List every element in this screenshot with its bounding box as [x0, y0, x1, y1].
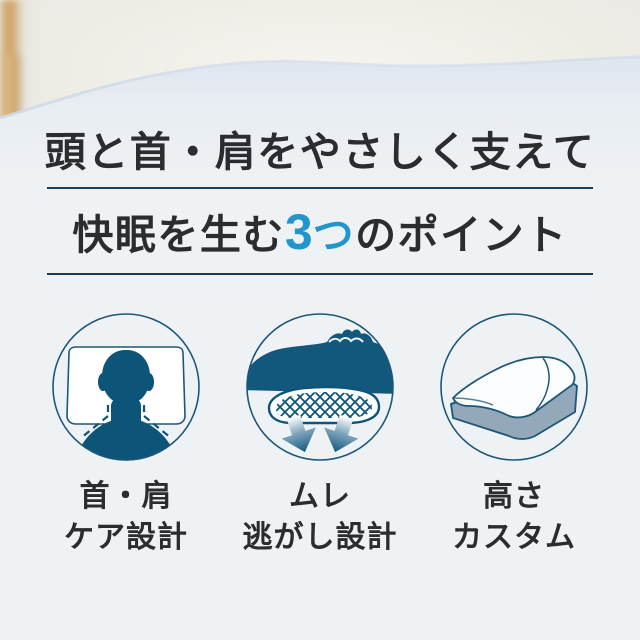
- height-adjust-layer-icon: [439, 312, 589, 462]
- feature-item-neck-shoulder: 首・肩 ケア設計: [47, 312, 205, 558]
- mesh-airflow-icon: [245, 312, 395, 462]
- headline-line-1: 頭と首・肩をやさしく支えて: [0, 126, 640, 178]
- feature-2-caption-line-2: 逃がし設計: [243, 517, 398, 558]
- headline-line-2: 快眠を生む3つのポイント: [0, 206, 640, 261]
- headline-line-2-after: のポイント: [355, 212, 568, 258]
- infographic-page: 頭と首・肩をやさしく支えて 快眠を生む3つのポイント: [0, 0, 640, 640]
- feature-1-icon-wrap: [51, 312, 201, 462]
- headline-rule-bottom: [47, 273, 593, 275]
- feature-list: 首・肩 ケア設計: [0, 312, 640, 558]
- feature-1-caption: 首・肩 ケア設計: [64, 476, 188, 558]
- wood-furniture-highlight: [5, 55, 19, 130]
- feature-3-icon-wrap: [439, 312, 589, 462]
- background-photo-band: [0, 0, 640, 130]
- headline-point-counter: つ: [313, 212, 356, 258]
- feature-2-caption: ムレ 逃がし設計: [243, 476, 398, 558]
- photo-soft-blur: [40, 0, 640, 130]
- feature-2-icon-wrap: [245, 312, 395, 462]
- feature-item-height: 高さ カスタム: [435, 312, 593, 558]
- headline-line-2-before: 快眠を生む: [72, 212, 285, 258]
- feature-2-caption-line-1: ムレ: [243, 476, 398, 517]
- feature-1-caption-line-2: ケア設計: [64, 517, 188, 558]
- feature-item-airflow: ムレ 逃がし設計: [241, 312, 399, 558]
- feature-3-caption-line-2: カスタム: [452, 517, 576, 558]
- feature-1-caption-line-1: 首・肩: [64, 476, 188, 517]
- headline-point-count: 3: [285, 204, 313, 260]
- headline-block: 頭と首・肩をやさしく支えて 快眠を生む3つのポイント: [0, 126, 640, 275]
- feature-3-caption-line-1: 高さ: [452, 476, 576, 517]
- headline-rule-top: [47, 187, 593, 189]
- head-shoulder-support-icon: [51, 312, 201, 462]
- feature-3-caption: 高さ カスタム: [452, 476, 576, 558]
